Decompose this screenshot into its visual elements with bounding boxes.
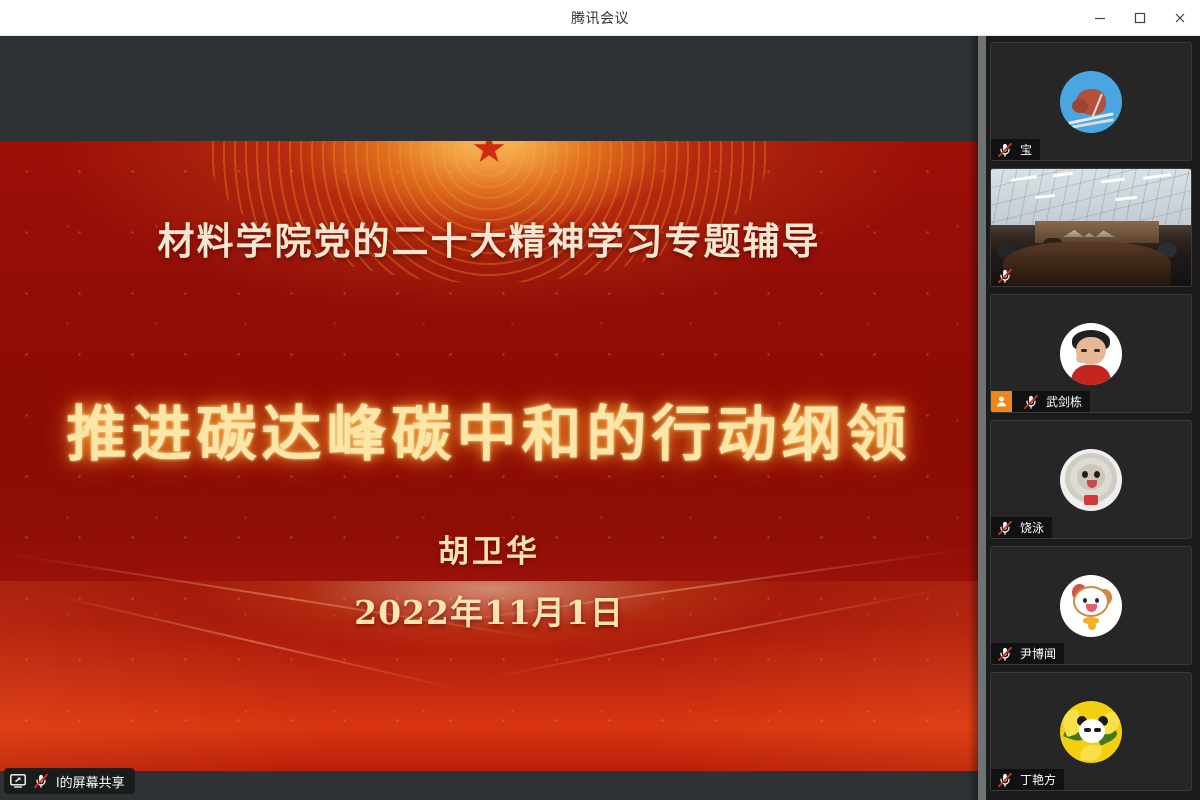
host-badge bbox=[991, 391, 1012, 412]
participant-tile[interactable] bbox=[990, 168, 1192, 287]
maximize-icon bbox=[1133, 11, 1147, 25]
participant-name-badge: 宝 bbox=[991, 139, 1040, 160]
close-icon bbox=[1173, 11, 1187, 25]
window-title: 腾讯会议 bbox=[571, 8, 629, 28]
participant-tile[interactable]: 武剑栋 bbox=[990, 294, 1192, 413]
screen-share-label-text: l的屏幕共享 bbox=[56, 772, 125, 791]
screen-share-icon bbox=[10, 774, 26, 788]
minimize-icon bbox=[1093, 11, 1107, 25]
participant-name: 饶泳 bbox=[1019, 519, 1044, 536]
panda-flowers-avatar bbox=[1060, 701, 1122, 763]
mic-muted-icon bbox=[32, 772, 50, 790]
meeting-window: 腾讯会议 bbox=[0, 0, 1200, 800]
meeting-body: ★ 材料学院党的二十大精神学习专题辅导 推进碳达峰碳中和的行动纲领 胡卫华 20… bbox=[0, 36, 1200, 800]
participant-name-badge: 丁艳方 bbox=[991, 769, 1064, 790]
boy-cartoon-avatar bbox=[1060, 323, 1122, 385]
minimize-button[interactable] bbox=[1080, 0, 1120, 36]
screen-share-label: l的屏幕共享 bbox=[4, 768, 135, 794]
shared-screen-stage[interactable]: ★ 材料学院党的二十大精神学习专题辅导 推进碳达峰碳中和的行动纲领 胡卫华 20… bbox=[0, 36, 978, 800]
skier-avatar bbox=[1060, 71, 1122, 133]
mic-muted-icon bbox=[996, 267, 1014, 285]
participant-name-badge bbox=[991, 265, 1028, 286]
close-button[interactable] bbox=[1160, 0, 1200, 36]
dog-cartoon-avatar bbox=[1060, 575, 1122, 637]
astronaut-cat-avatar bbox=[1060, 449, 1122, 511]
participant-tile[interactable]: 宝 bbox=[990, 42, 1192, 161]
window-controls bbox=[1080, 0, 1200, 36]
mic-muted-icon bbox=[996, 771, 1014, 789]
presentation-slide: ★ 材料学院党的二十大精神学习专题辅导 推进碳达峰碳中和的行动纲领 胡卫华 20… bbox=[0, 141, 978, 771]
slide-subtitle: 材料学院党的二十大精神学习专题辅导 bbox=[0, 211, 978, 265]
slide-presenter: 胡卫华 bbox=[0, 526, 978, 571]
mic-muted-icon bbox=[996, 519, 1014, 537]
participant-name: 武剑栋 bbox=[1045, 393, 1082, 410]
participant-tile[interactable]: 饶泳 bbox=[990, 420, 1192, 539]
slide-text-block: 材料学院党的二十大精神学习专题辅导 推进碳达峰碳中和的行动纲领 胡卫华 2022… bbox=[0, 141, 978, 771]
participant-name-badge: 武剑栋 bbox=[991, 391, 1090, 412]
participant-name: 宝 bbox=[1019, 141, 1032, 158]
participant-tile[interactable]: 尹博闻 bbox=[990, 546, 1192, 665]
person-icon bbox=[995, 395, 1008, 408]
participant-name: 丁艳方 bbox=[1019, 771, 1056, 788]
maximize-button[interactable] bbox=[1120, 0, 1160, 36]
participant-tile[interactable]: 丁艳方 bbox=[990, 672, 1192, 791]
slide-title: 推进碳达峰碳中和的行动纲领 bbox=[0, 386, 978, 473]
mic-muted-icon bbox=[996, 141, 1014, 159]
mic-muted-icon bbox=[996, 645, 1014, 663]
participant-sidebar: 宝 bbox=[986, 36, 1200, 800]
title-bar: 腾讯会议 bbox=[0, 0, 1200, 36]
conference-table bbox=[1003, 242, 1171, 286]
participant-name: 尹博闻 bbox=[1019, 645, 1056, 662]
participant-name-badge: 尹博闻 bbox=[991, 643, 1064, 664]
mic-muted-icon bbox=[1022, 393, 1040, 411]
panel-divider[interactable] bbox=[978, 36, 986, 800]
slide-date: 2022年11月1日 bbox=[0, 586, 978, 634]
participant-name-badge: 饶泳 bbox=[991, 517, 1052, 538]
